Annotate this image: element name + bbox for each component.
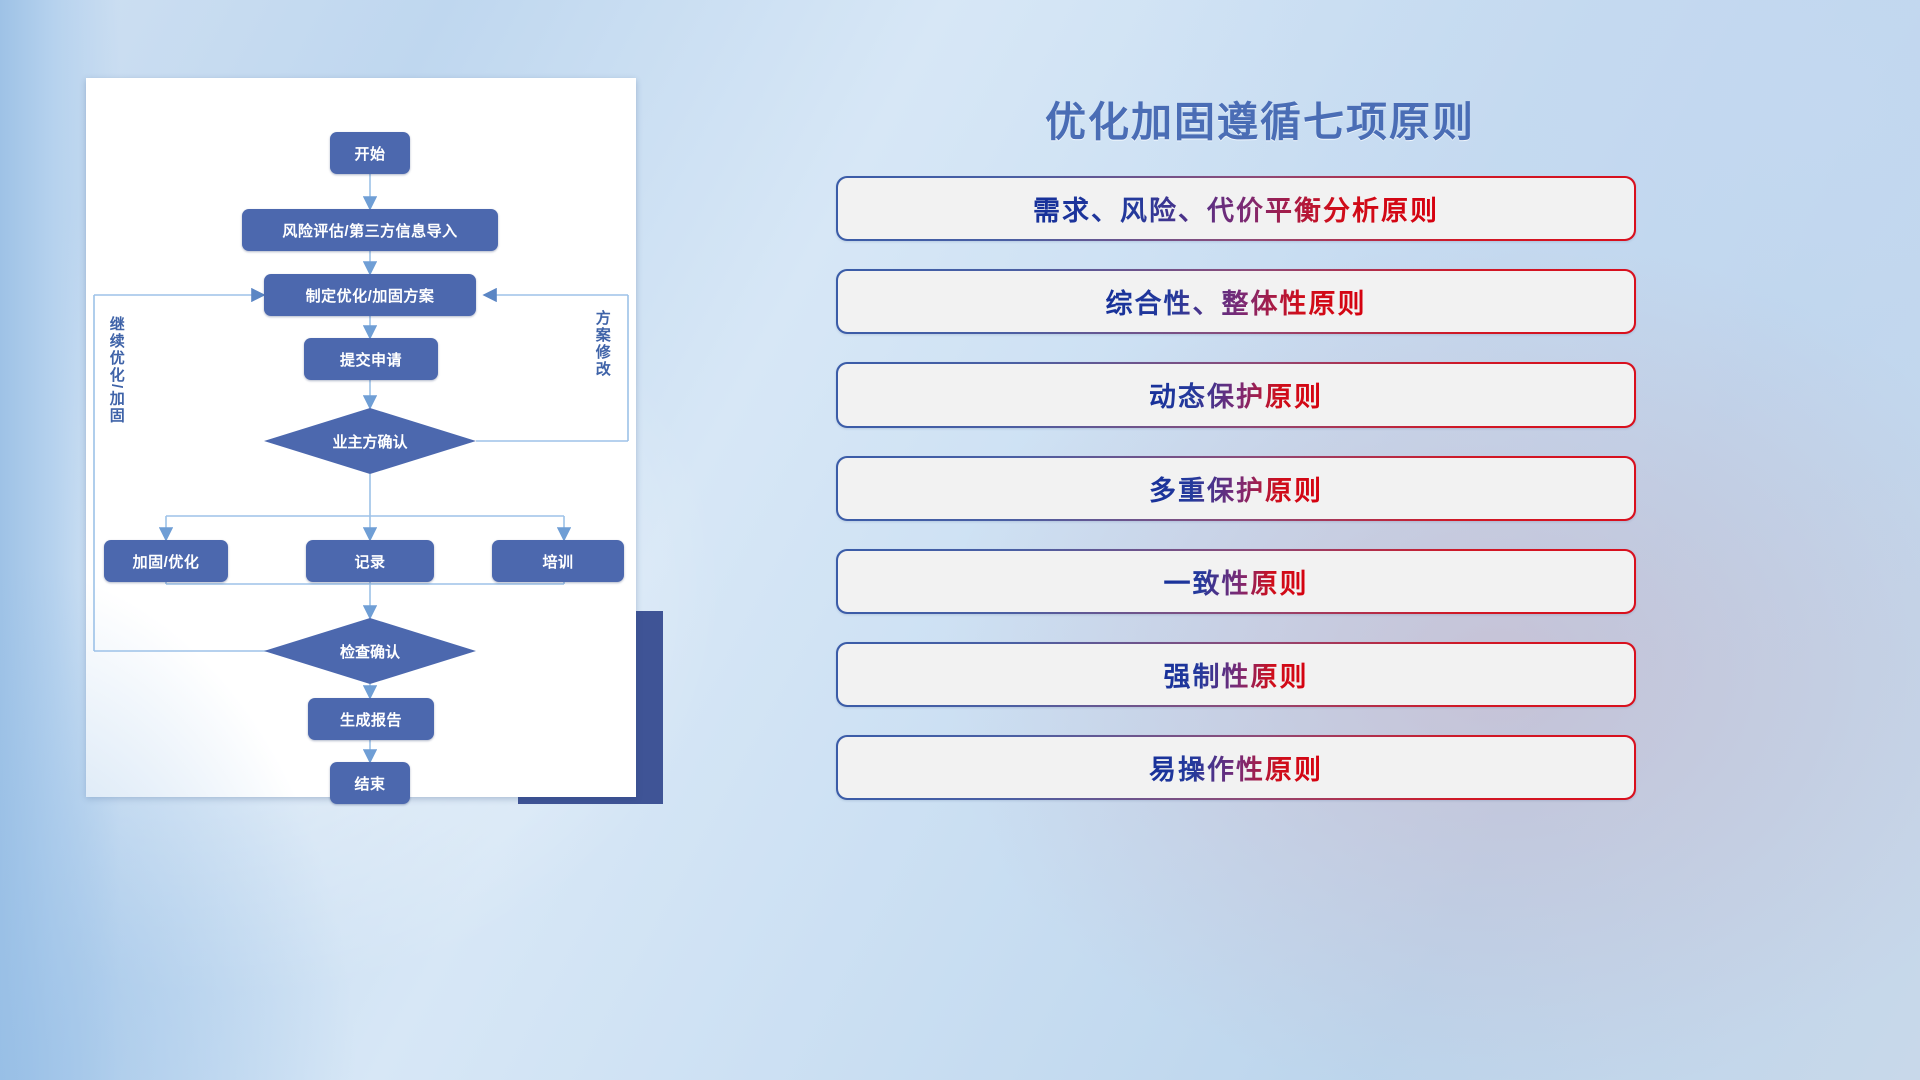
edge-label-plan-revision: 方案修改: [594, 310, 610, 378]
principle-item[interactable]: 综合性、整体性原则: [836, 269, 1636, 334]
principle-label: 强制性原则: [1164, 655, 1309, 694]
flow-node-label: 记录: [354, 551, 385, 572]
flow-node-label: 业主方确认: [332, 431, 407, 452]
principle-label: 一致性原则: [1164, 562, 1309, 601]
principles-list: 需求、风险、代价平衡分析原则 综合性、整体性原则 动态保护原则 多重保护原则 一…: [836, 176, 1636, 828]
flow-node-report[interactable]: 生成报告: [308, 698, 434, 740]
principle-item[interactable]: 易操作性原则: [836, 735, 1636, 800]
flow-node-risk-assessment[interactable]: 风险评估/第三方信息导入: [242, 209, 498, 251]
flow-node-plan[interactable]: 制定优化/加固方案: [264, 274, 476, 316]
flow-node-label: 风险评估/第三方信息导入: [282, 220, 457, 241]
principle-label: 易操作性原则: [1149, 748, 1323, 787]
principle-item[interactable]: 多重保护原则: [836, 456, 1636, 521]
principle-label: 综合性、整体性原则: [1106, 282, 1367, 321]
flow-node-start[interactable]: 开始: [330, 132, 410, 174]
slide-canvas: 开始 风险评估/第三方信息导入 制定优化/加固方案 提交申请 业主方确认 加固/…: [0, 0, 1920, 1080]
flow-node-label: 结束: [354, 773, 385, 794]
flow-node-label: 提交申请: [340, 349, 402, 370]
principle-item[interactable]: 一致性原则: [836, 549, 1636, 614]
flowchart-card: 开始 风险评估/第三方信息导入 制定优化/加固方案 提交申请 业主方确认 加固/…: [86, 78, 636, 797]
flow-node-label: 制定优化/加固方案: [306, 285, 435, 306]
flow-node-label: 加固/优化: [133, 551, 200, 572]
flow-node-label: 检查确认: [340, 641, 400, 662]
principle-label: 多重保护原则: [1149, 469, 1323, 508]
flow-node-reinforce[interactable]: 加固/优化: [104, 540, 228, 582]
principle-label: 需求、风险、代价平衡分析原则: [1033, 189, 1439, 228]
principle-item[interactable]: 强制性原则: [836, 642, 1636, 707]
flow-node-label: 开始: [354, 143, 385, 164]
flow-node-submit[interactable]: 提交申请: [304, 338, 438, 380]
flowchart: 开始 风险评估/第三方信息导入 制定优化/加固方案 提交申请 业主方确认 加固/…: [86, 78, 636, 797]
principles-panel: 优化加固遵循七项原则 需求、风险、代价平衡分析原则 综合性、整体性原则 动态保护…: [820, 0, 1920, 1080]
flow-node-record[interactable]: 记录: [306, 540, 434, 582]
principle-label: 动态保护原则: [1149, 375, 1323, 414]
principle-item[interactable]: 动态保护原则: [836, 362, 1636, 427]
flow-node-training[interactable]: 培训: [492, 540, 624, 582]
flow-node-end[interactable]: 结束: [330, 762, 410, 804]
flow-node-label: 培训: [542, 551, 573, 572]
edge-label-continue-optimize: 继续优化/加固: [108, 316, 124, 424]
flow-node-label: 生成报告: [340, 709, 402, 730]
principle-item[interactable]: 需求、风险、代价平衡分析原则: [836, 176, 1636, 241]
panel-title: 优化加固遵循七项原则: [820, 88, 1700, 148]
